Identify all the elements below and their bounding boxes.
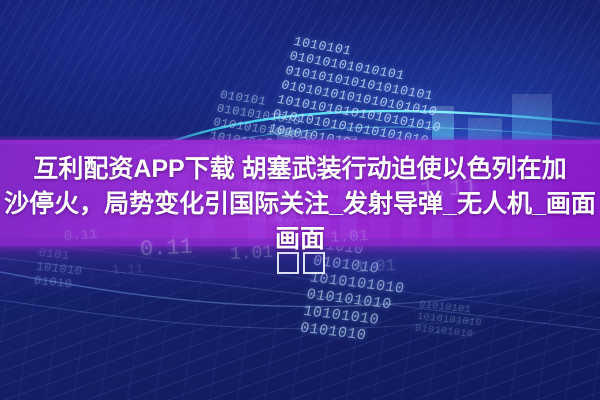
headline-text: 互利配资APP下载 胡塞武装行动迫使以色列在加 沙停火，局势变化引国际关注_发射…: [0, 152, 600, 257]
headline-line-3: 画面: [4, 222, 596, 257]
headline-line-2: 沙停火，局势变化引国际关注_发射导弹_无人机_画面: [4, 187, 596, 222]
banner-image: 1010101 01010101010101 01010101010101010…: [0, 0, 600, 400]
headline-line-1: 互利配资APP下载 胡塞武装行动迫使以色列在加: [4, 152, 596, 187]
